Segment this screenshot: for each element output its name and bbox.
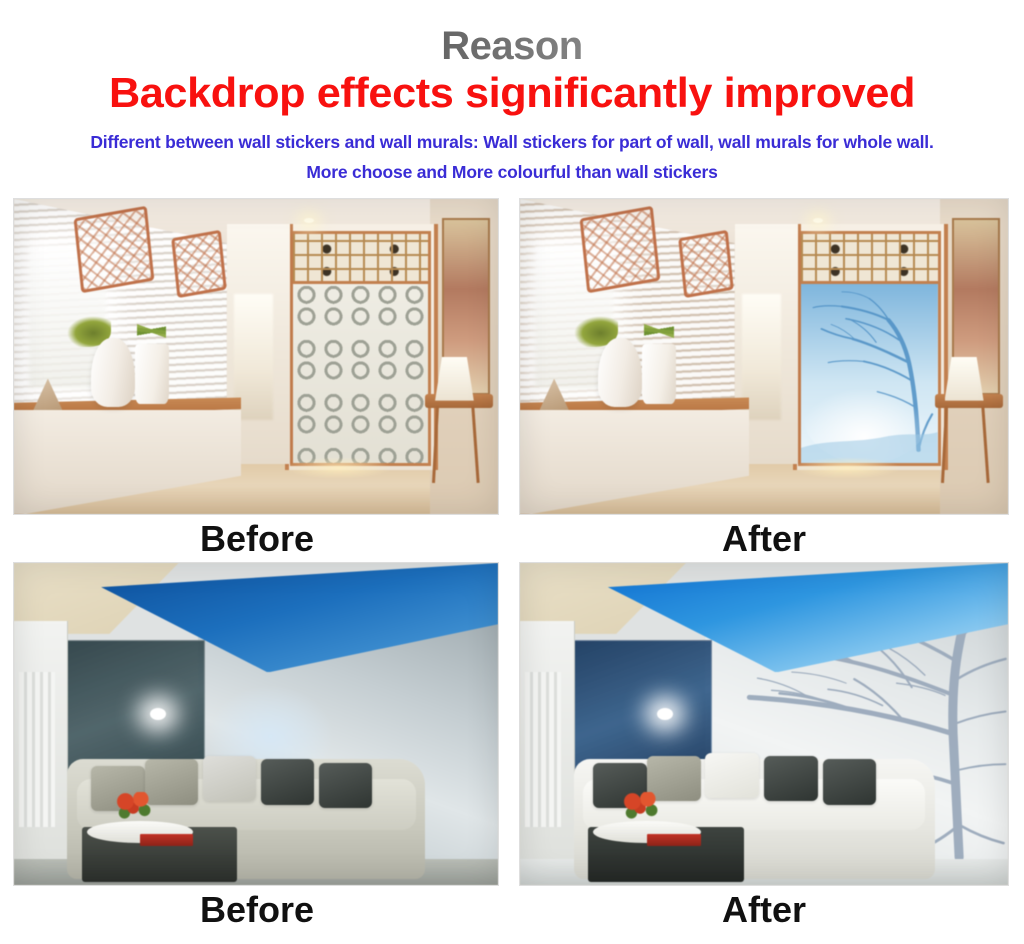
panel-livingroom-after <box>520 563 1008 885</box>
floor-light-pool <box>285 457 391 479</box>
wall-lattice-decor-small <box>678 229 733 297</box>
console-table <box>425 394 493 489</box>
ceiling-downlight <box>813 218 823 223</box>
flower-vase <box>618 792 667 831</box>
ceiling-spotlight <box>150 708 166 720</box>
cushion <box>261 759 314 804</box>
console-table-leg-right <box>981 406 989 484</box>
floor-light-pool <box>793 457 900 479</box>
subtitle-line-1: Different between wall stickers and wall… <box>0 131 1024 153</box>
ceiling-spotlight <box>657 708 673 720</box>
white-vase-large <box>91 338 135 407</box>
cushion <box>823 759 877 804</box>
wall-lattice-decor-large <box>73 205 154 293</box>
panel-livingroom-before <box>14 563 498 885</box>
panel-hallway-before <box>14 199 498 514</box>
hallway-after-scene <box>520 199 1008 514</box>
book-on-table <box>140 834 193 847</box>
subtitle-line-2: More choose and More colourful than wall… <box>0 161 1024 183</box>
flower-vase <box>111 792 159 831</box>
cushion <box>319 763 372 808</box>
console-table-leg-left <box>431 406 438 484</box>
console-table-leg-left <box>941 406 948 484</box>
livingroom-before-scene <box>14 563 498 885</box>
caption-livingroom-after: After <box>722 890 806 930</box>
wall-lattice-decor-large <box>580 205 661 293</box>
console-table <box>935 394 1003 489</box>
eyebrow-title: Reason <box>0 24 1024 68</box>
lattice-transom <box>290 231 432 287</box>
circle-pattern-wallpaper <box>293 284 429 464</box>
cushion <box>705 753 759 798</box>
book-on-table <box>647 834 701 847</box>
page-title: Backdrop effects significantly improved <box>0 68 1024 118</box>
lattice-transom <box>798 231 941 287</box>
header-text-block: Reason Backdrop effects significantly im… <box>0 0 1024 196</box>
caption-hallway-before: Before <box>200 519 314 559</box>
radiator <box>19 672 55 827</box>
white-vase-small <box>642 344 676 404</box>
white-vase-small <box>135 344 169 404</box>
console-table-leg-right <box>471 406 479 484</box>
cushion <box>203 756 256 801</box>
caption-livingroom-before: Before <box>200 890 314 930</box>
blue-tree-mural <box>801 284 938 464</box>
hallway-before-scene <box>14 199 498 514</box>
caption-hallway-after: After <box>722 519 806 559</box>
tree-mural-art <box>801 284 938 464</box>
wall-panel-before <box>290 281 432 467</box>
white-vase-large <box>598 338 642 407</box>
livingroom-after-scene <box>520 563 1008 885</box>
wall-lattice-decor-small <box>171 229 226 297</box>
panel-hallway-after <box>520 199 1008 514</box>
cushion <box>764 756 818 801</box>
wall-panel-after <box>798 281 941 467</box>
radiator <box>525 672 562 827</box>
